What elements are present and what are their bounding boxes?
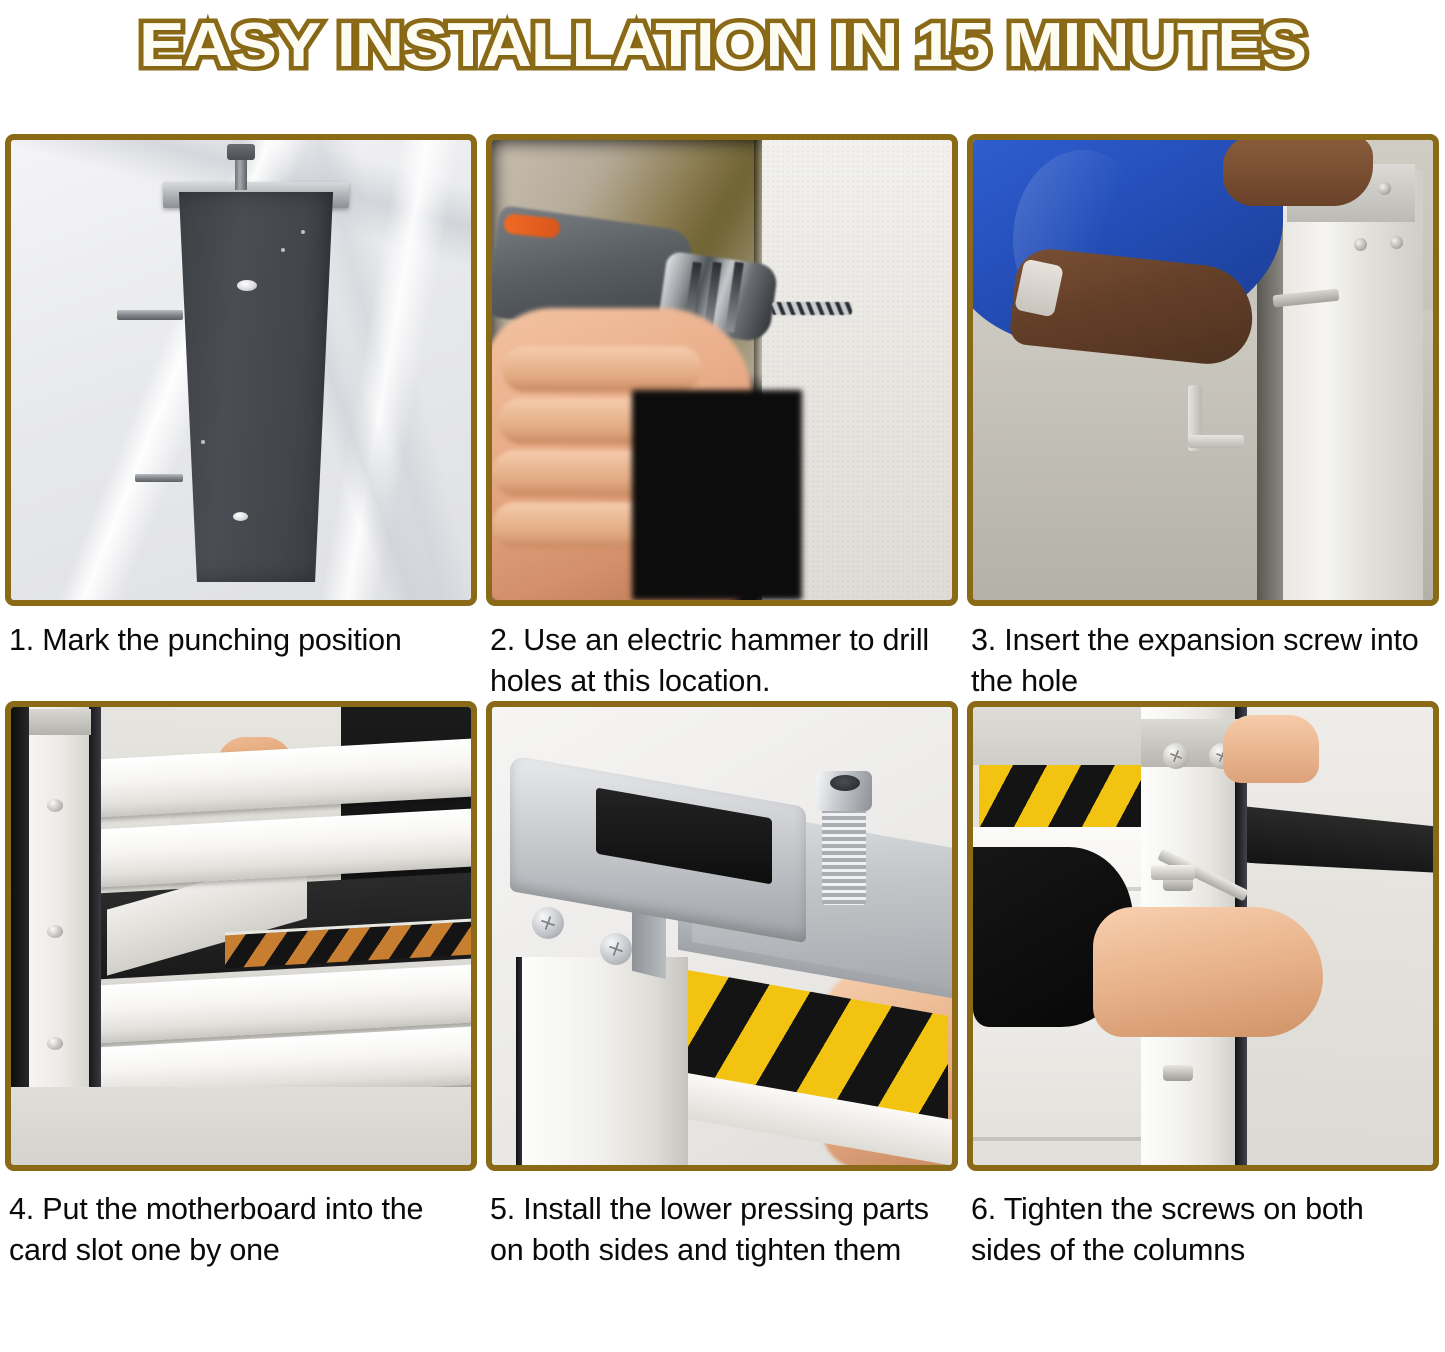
step-caption-4: 4. Put the motherboard into the card slo…: [5, 1171, 483, 1270]
panel-groove: [973, 1137, 1149, 1141]
step-photo-frame-5: [486, 701, 958, 1171]
step-caption-6: 6. Tighten the screws on both sides of t…: [967, 1171, 1445, 1270]
surface-speck: [301, 230, 305, 234]
wrench-head: [1151, 865, 1195, 880]
worker-upper-hand: [1223, 140, 1373, 206]
column-top-plate: [29, 709, 91, 735]
step-caption-1: 1. Mark the punching position: [5, 606, 483, 661]
step-card-4: 4. Put the motherboard into the card slo…: [5, 701, 483, 1270]
column-dark-edge: [11, 707, 31, 1107]
drill-hole-upper: [237, 280, 257, 291]
column-screw: [1378, 182, 1391, 195]
step-photo-frame-2: [486, 134, 958, 606]
step-card-1: 1. Mark the punching position: [5, 134, 483, 701]
column-bolt: [1163, 1065, 1193, 1081]
photo-lower-pressing-parts: [492, 707, 952, 1165]
step-card-3: 3. Insert the expansion screw into the h…: [967, 134, 1445, 701]
finger: [502, 346, 702, 392]
step-caption-5: 5. Install the lower pressing parts on b…: [486, 1171, 964, 1270]
white-column: [522, 957, 688, 1165]
hand-with-wrench: [1093, 907, 1323, 1037]
step-photo-frame-6: [967, 701, 1439, 1171]
floor: [11, 1087, 471, 1165]
upper-background: [973, 707, 1149, 765]
installation-steps-grid: 1. Mark the punching position: [5, 134, 1440, 1270]
step-caption-2: 2. Use an electric hammer to drill holes…: [486, 606, 964, 701]
step-photo-frame-3: [967, 134, 1439, 606]
column-screw: [1390, 236, 1403, 249]
allen-key-short-arm: [1188, 435, 1244, 448]
photo-drill-holes: [492, 140, 952, 600]
hazard-stripe-board: [979, 765, 1145, 827]
side-pin-upper: [117, 310, 183, 320]
step-card-5: 5. Install the lower pressing parts on b…: [486, 701, 964, 1270]
step-photo-frame-1: [5, 134, 477, 606]
sleeve: [632, 390, 802, 600]
left-column: [29, 707, 89, 1127]
column-screw: [1354, 238, 1367, 251]
step-caption-3: 3. Insert the expansion screw into the h…: [967, 606, 1445, 701]
photo-tighten-column-screws: [973, 707, 1433, 1165]
phillips-screw: [1163, 743, 1189, 769]
second-hand: [1223, 715, 1319, 783]
step-card-2: 2. Use an electric hammer to drill holes…: [486, 134, 964, 701]
top-bolt-head: [227, 144, 255, 160]
phillips-screw: [600, 933, 632, 965]
drill-hole-lower: [233, 512, 248, 521]
side-pin-lower: [135, 474, 183, 482]
step-photo-frame-4: [5, 701, 477, 1171]
photo-mark-punching-position: [11, 140, 471, 600]
surface-speck: [281, 248, 285, 252]
white-column: [1283, 170, 1423, 600]
page-title: EASY INSTALLATION IN 15 MINUTES: [139, 10, 1306, 81]
column-post: [174, 192, 338, 582]
step-card-6: 6. Tighten the screws on both sides of t…: [967, 701, 1445, 1270]
surface-speck: [201, 440, 205, 444]
phillips-screw: [532, 907, 564, 939]
photo-motherboard-card-slot: [11, 707, 471, 1165]
photo-insert-expansion-screw: [973, 140, 1433, 600]
drill-bit: [772, 302, 852, 315]
header-banner: EASY INSTALLATION IN 15 MINUTES: [0, 0, 1445, 86]
column-slot-gap: [89, 707, 101, 1127]
